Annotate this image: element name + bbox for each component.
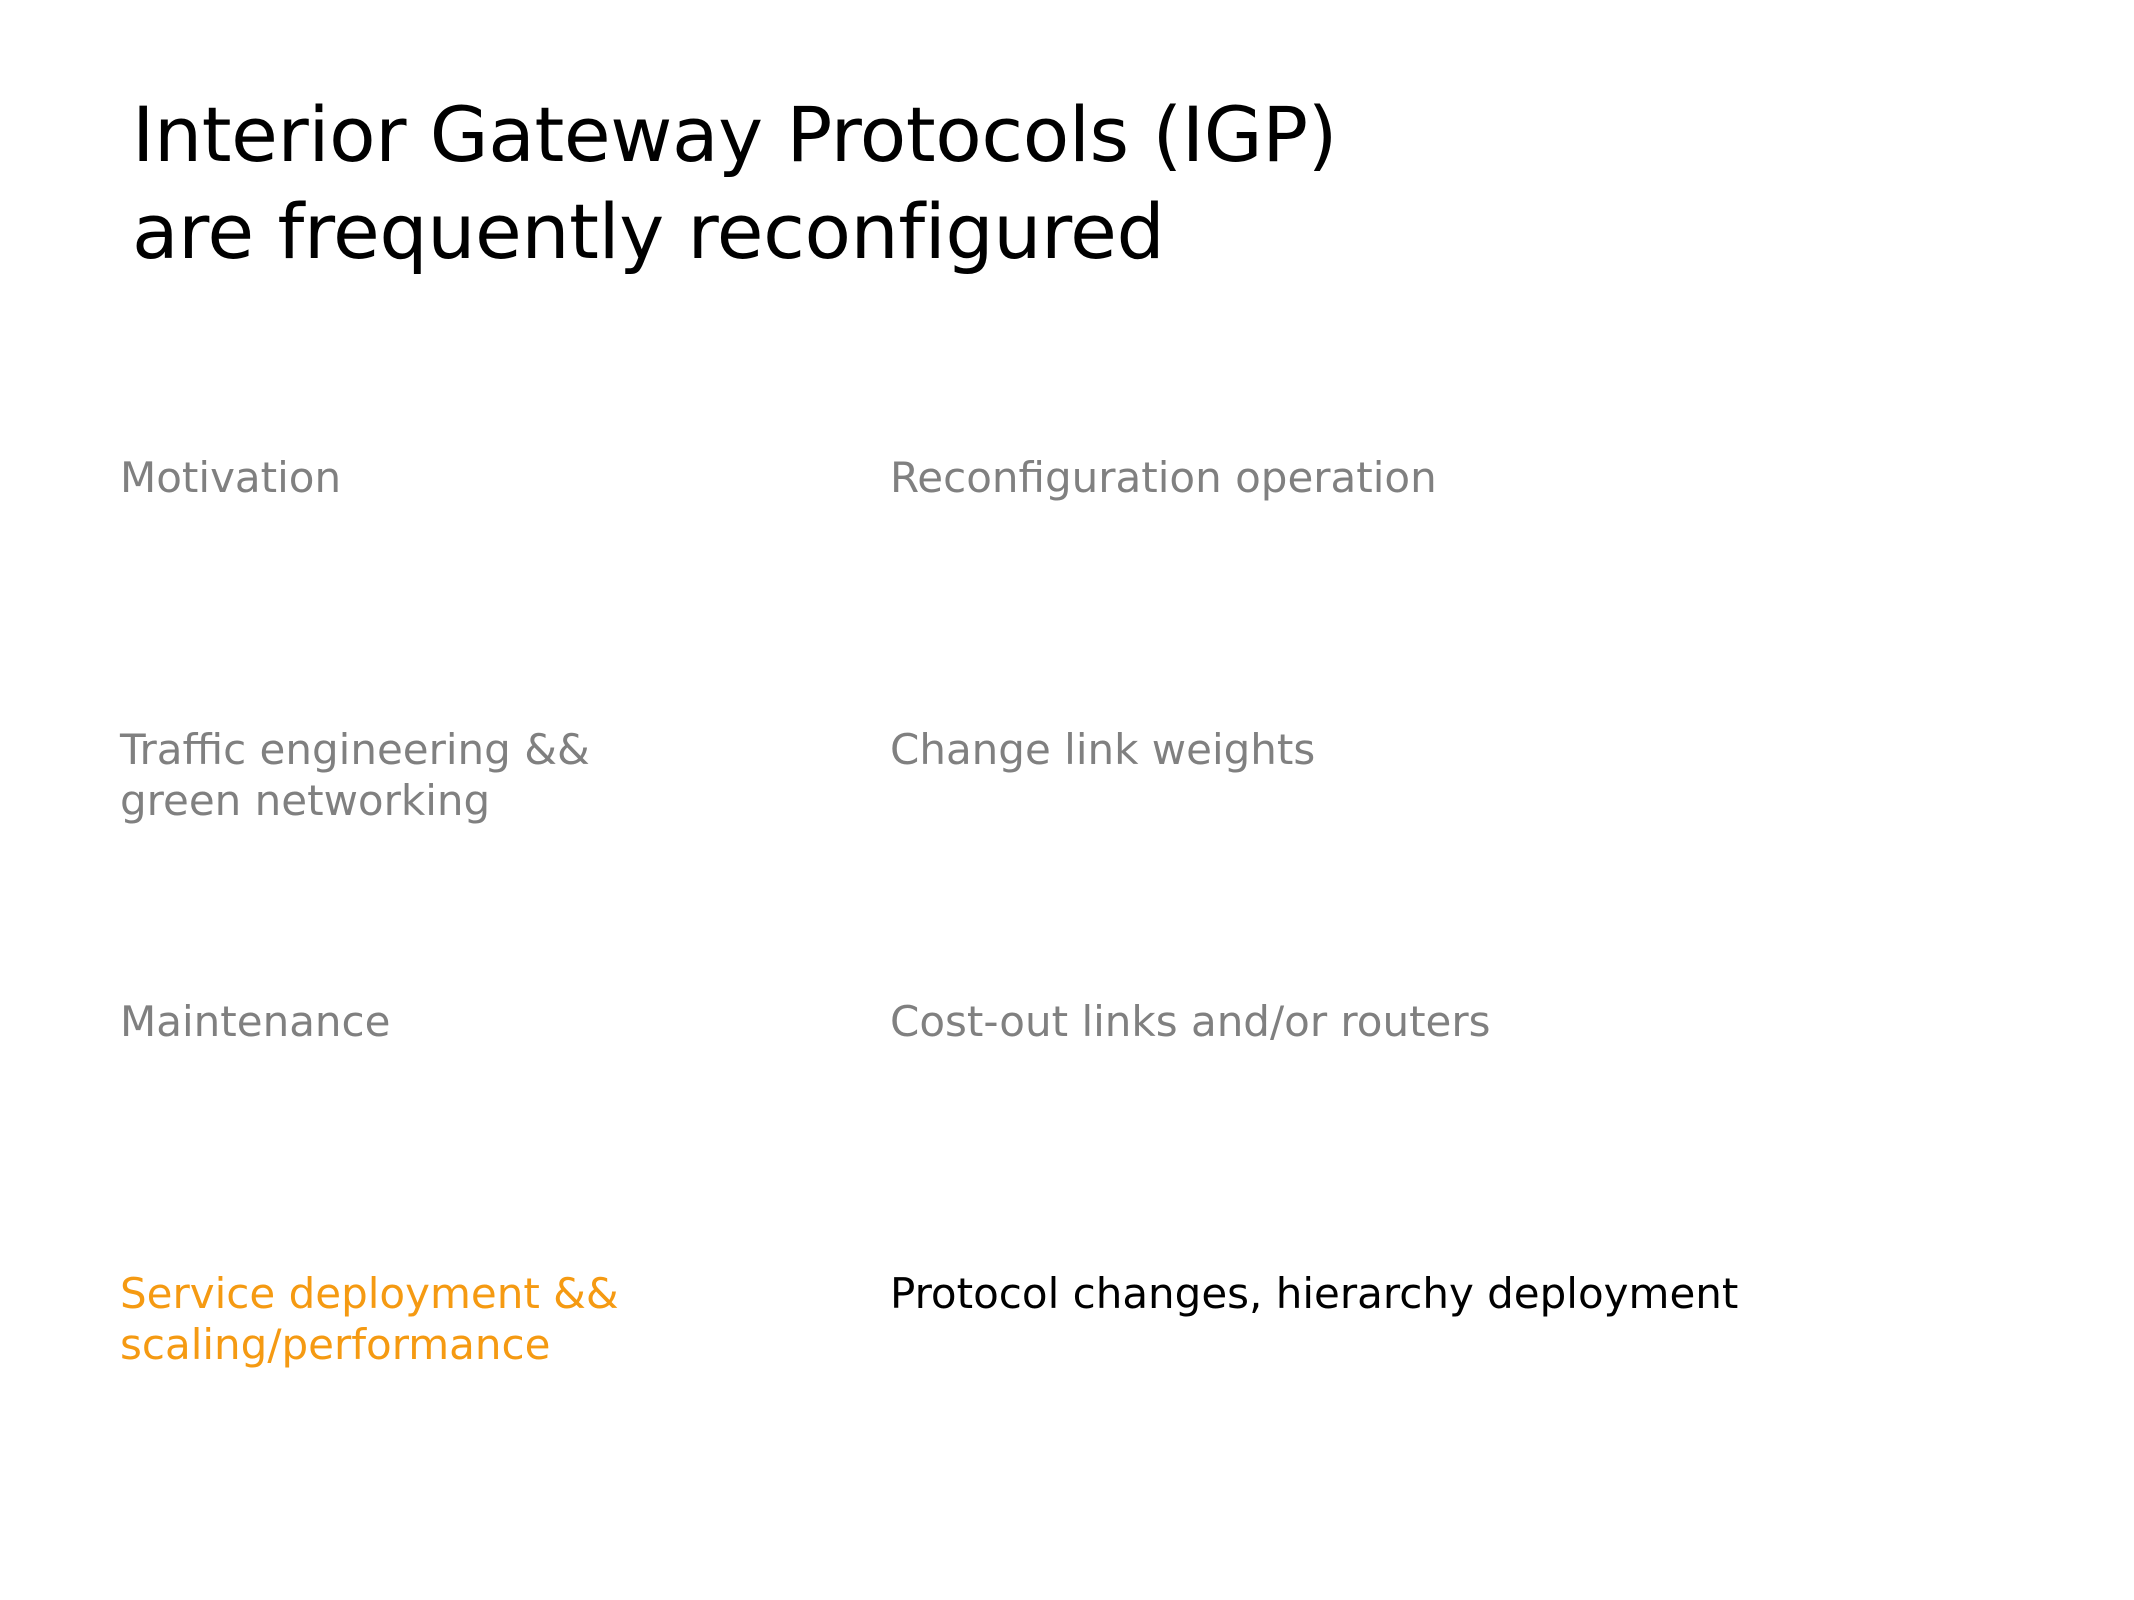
cell-operation-change-link-weights: Change link weights	[890, 724, 2020, 775]
motivation-line-2: green networking	[120, 775, 890, 826]
table-row: Maintenance Cost-out links and/or router…	[120, 996, 2020, 1268]
table-row-highlighted: Service deployment && scaling/performanc…	[120, 1268, 2020, 1370]
motivation-line-1: Service deployment &&	[120, 1269, 619, 1318]
motivation-text: Service deployment && scaling/performanc…	[120, 1268, 890, 1370]
motivation-line-2: scaling/performance	[120, 1319, 890, 1370]
slide-canvas: Interior Gateway Protocols (IGP) are fre…	[0, 0, 2134, 1600]
operation-text: Cost-out links and/or routers	[890, 996, 2020, 1047]
motivation-line-1: Traffic engineering &&	[120, 725, 590, 774]
motivation-text: Traffic engineering && green networking	[120, 724, 890, 826]
cell-motivation-service-deployment: Service deployment && scaling/performanc…	[120, 1268, 890, 1370]
title-line-1: Interior Gateway Protocols (IGP)	[132, 86, 1932, 183]
motivation-line-1: Maintenance	[120, 997, 390, 1046]
header-cell-operation: Reconfiguration operation	[890, 452, 2020, 503]
motivation-operation-table: Motivation Reconfiguration operation Tra…	[120, 452, 2020, 1370]
header-label-motivation: Motivation	[120, 452, 890, 503]
operation-text: Protocol changes, hierarchy deployment	[890, 1268, 2020, 1319]
cell-operation-protocol-changes: Protocol changes, hierarchy deployment	[890, 1268, 2020, 1319]
cell-motivation-traffic-engineering: Traffic engineering && green networking	[120, 724, 890, 826]
motivation-text: Maintenance	[120, 996, 890, 1047]
table-row: Traffic engineering && green networking …	[120, 724, 2020, 996]
operation-text: Change link weights	[890, 724, 2020, 775]
header-label-operation: Reconfiguration operation	[890, 452, 2020, 503]
page-title: Interior Gateway Protocols (IGP) are fre…	[132, 86, 1932, 281]
cell-operation-cost-out-links: Cost-out links and/or routers	[890, 996, 2020, 1047]
table-header-row: Motivation Reconfiguration operation	[120, 452, 2020, 724]
cell-motivation-maintenance: Maintenance	[120, 996, 890, 1047]
title-line-2: are frequently reconfigured	[132, 183, 1932, 280]
header-cell-motivation: Motivation	[120, 452, 890, 503]
